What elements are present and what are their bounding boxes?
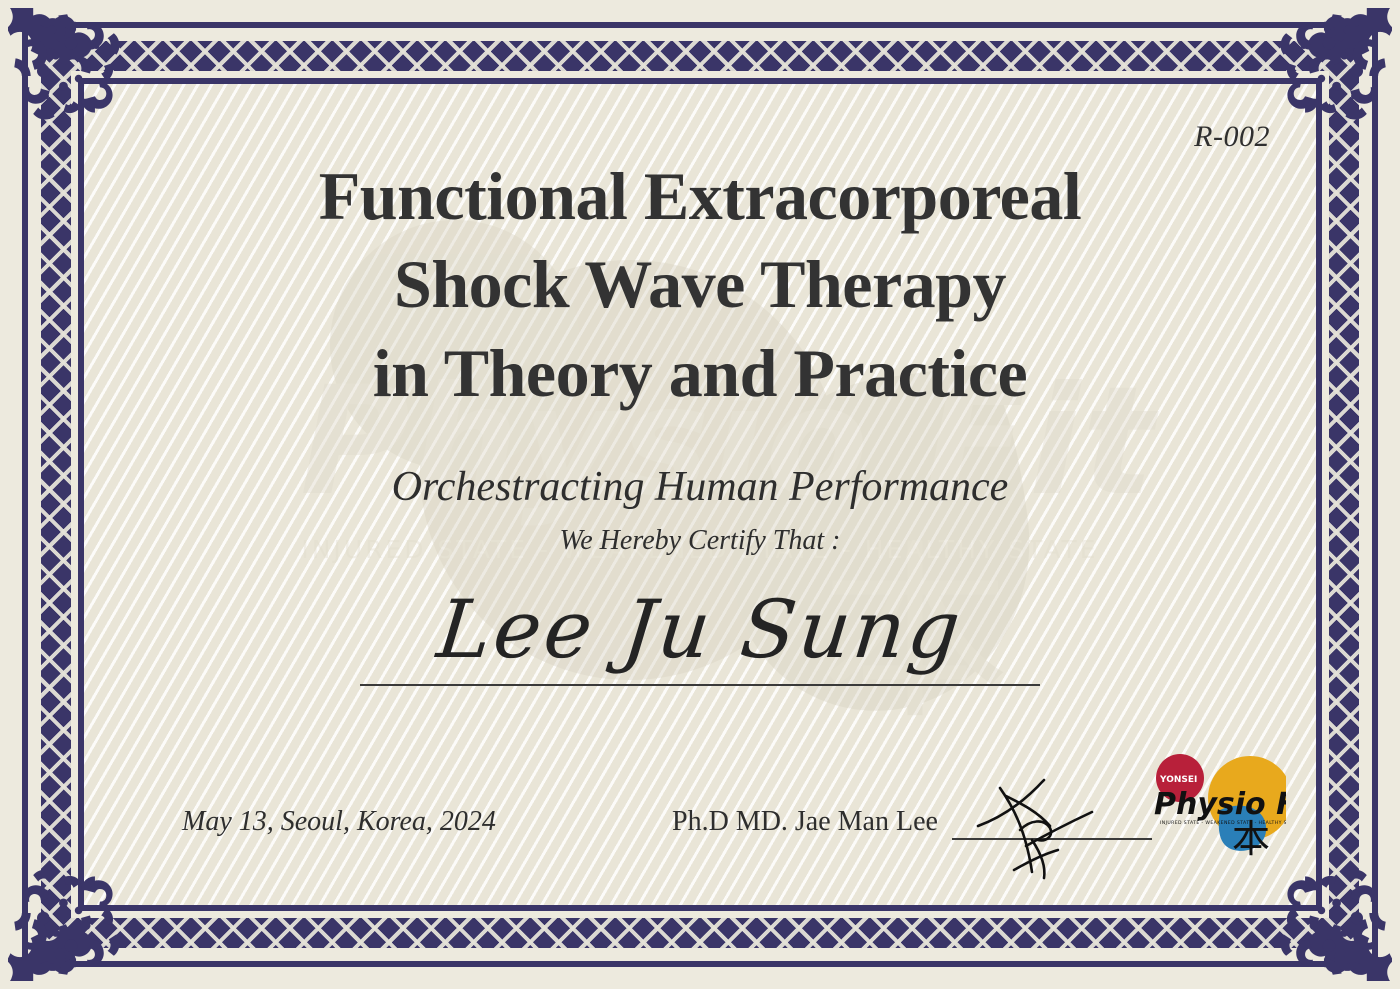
certificate-content: R-002 Functional Extracorporeal Shock Wa…	[0, 0, 1400, 989]
handwritten-signature	[970, 774, 1120, 884]
signature-line-wrap	[952, 838, 1152, 840]
signature-block: Ph.D MD. Jae Man Lee	[672, 806, 1152, 840]
logo-institution-text: YONSEI	[1159, 775, 1197, 785]
recipient-block: Lee Ju Sung	[360, 580, 1040, 686]
certify-statement: We Hereby Certify That :	[0, 525, 1400, 557]
reference-number: R-002	[1194, 120, 1270, 154]
date-location: May 13, Seoul, Korea, 2024	[182, 806, 496, 838]
recipient-underline	[360, 684, 1040, 686]
physio-fit-logo: YONSEI Physio Fit INJURED STATE - WEAKEN…	[1146, 752, 1286, 856]
logo-kanji-text: 本	[1232, 817, 1270, 856]
certificate-subtitle: Orchestracting Human Performance	[0, 463, 1400, 511]
title-line-1: Functional Extracorporeal	[0, 152, 1400, 240]
title-line-3: in Theory and Practice	[0, 329, 1400, 417]
certificate: 本 Physio Fit INJURED STATE - WEAKENED ST…	[0, 0, 1400, 989]
recipient-name: Lee Ju Sung	[433, 580, 968, 680]
certificate-title: Functional Extracorporeal Shock Wave The…	[0, 152, 1400, 417]
signer-name: Ph.D MD. Jae Man Lee	[672, 806, 938, 840]
title-line-2: Shock Wave Therapy	[0, 240, 1400, 328]
